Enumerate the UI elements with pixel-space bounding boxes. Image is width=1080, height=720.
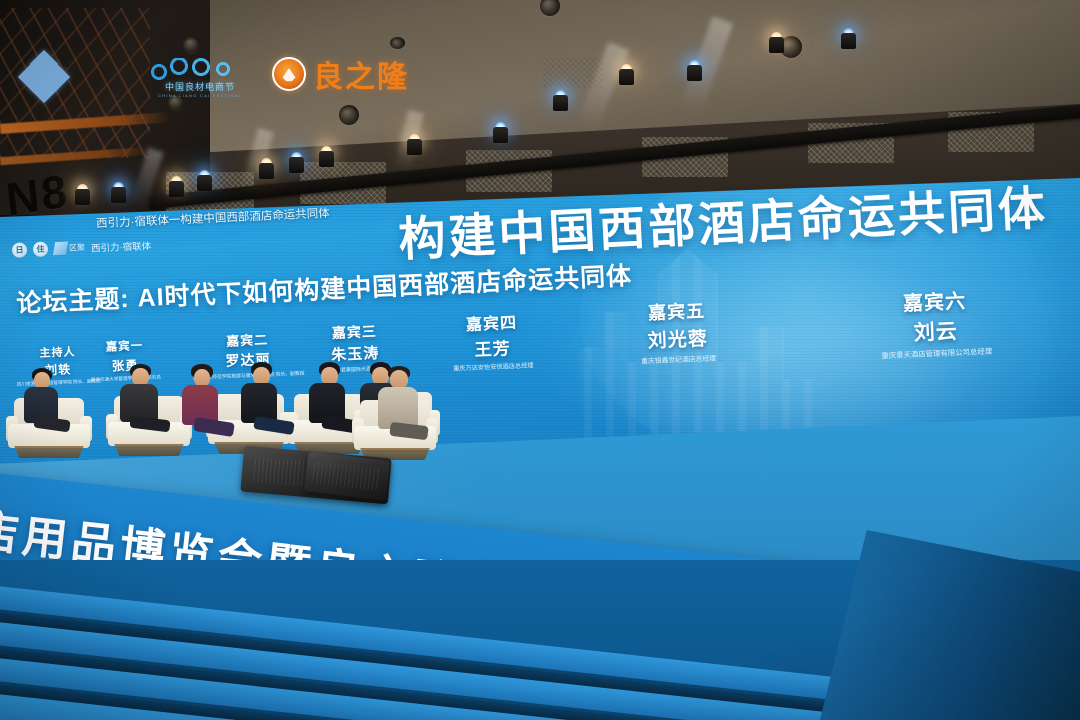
fair-logo-glyph-icon (145, 58, 255, 82)
ceiling-zone: N8 (0, 0, 1080, 215)
panelist-plate-5: 嘉宾五 刘光蓉 重庆银鑫世纪酒店总经理 (639, 296, 716, 365)
panelist-person (20, 368, 74, 440)
panelist-name: 王芳 (452, 333, 533, 361)
badge-icon-3: 区聚 (54, 241, 86, 255)
brand-name-label: 良之隆 (313, 52, 409, 96)
stage-light-fixture (74, 184, 91, 205)
fascia-logo-row: 中国良材电商节 CHINA LIANG CAI FESTIVAL 良之隆 (0, 38, 1080, 100)
fair-logo-en-label: CHINA LIANG CAI FESTIVAL (158, 93, 242, 98)
badge-mark-icon (53, 242, 68, 256)
badge-icon-1: 日 (12, 242, 28, 258)
badge-label: 区聚 (69, 242, 85, 254)
panelist-plate-6: 嘉宾六 刘云 重庆景天酒店管理有限公司总经理 (879, 284, 993, 362)
panelist-role: 嘉宾四 (451, 308, 532, 335)
screen-badge-lead: 西引力·宿联体 (91, 238, 152, 255)
panelist-person (118, 364, 174, 440)
stage-light-fixture (618, 64, 635, 85)
panelist-role: 嘉宾三 (319, 321, 390, 344)
ceiling-fascia-wall (140, 0, 1080, 200)
panelist-person (178, 364, 238, 442)
panelist-person (238, 362, 296, 442)
stage-light-fixture (768, 32, 785, 53)
conference-stage-photo: N8 中国良材电商节 CHINA LIANG CAI FESTIVAL 良之隆 (0, 0, 1080, 720)
stage-light-fixture (492, 122, 509, 143)
panelist-role: 嘉宾一 (89, 337, 160, 356)
ceiling-speaker-hole (339, 105, 359, 125)
stage-light-fixture (552, 90, 569, 111)
brand-seal-icon (272, 57, 306, 91)
diamond-emblem-icon (22, 54, 66, 98)
panelist-plate-4: 嘉宾四 王芳 重庆万达安怡安悦酒店总经理 (451, 308, 534, 372)
stage-light-fixture (840, 28, 857, 49)
panelist-org: 重庆万达安怡安悦酒店总经理 (453, 360, 534, 372)
stage-light-fixture (258, 158, 275, 179)
stage-light-fixture (406, 134, 423, 155)
stage-light-fixture (288, 152, 305, 173)
panelist-person (374, 366, 432, 448)
panelist-role: 嘉宾五 (639, 296, 715, 325)
screen-badge-row: 日 住 区聚 西引力·宿联体 (12, 237, 152, 258)
brand-logo: 良之隆 (272, 52, 409, 96)
stage-light-fixture (318, 146, 335, 167)
panelist-name: 刘云 (880, 314, 992, 349)
screen-forum-theme: 论坛主题: AI时代下如何构建中国西部酒店命运共同体 (16, 256, 633, 320)
stage-light-fixture (196, 170, 213, 191)
stage-light-fixture (110, 182, 127, 203)
stage-light-fixture (168, 176, 185, 197)
stage-light-fixture (686, 60, 703, 81)
badge-icon-2: 住 (33, 241, 49, 257)
panelist-name: 刘光蓉 (640, 323, 716, 353)
panelist-role: 嘉宾六 (879, 284, 991, 318)
fair-logo: 中国良材电商节 CHINA LIANG CAI FESTIVAL (140, 50, 260, 98)
